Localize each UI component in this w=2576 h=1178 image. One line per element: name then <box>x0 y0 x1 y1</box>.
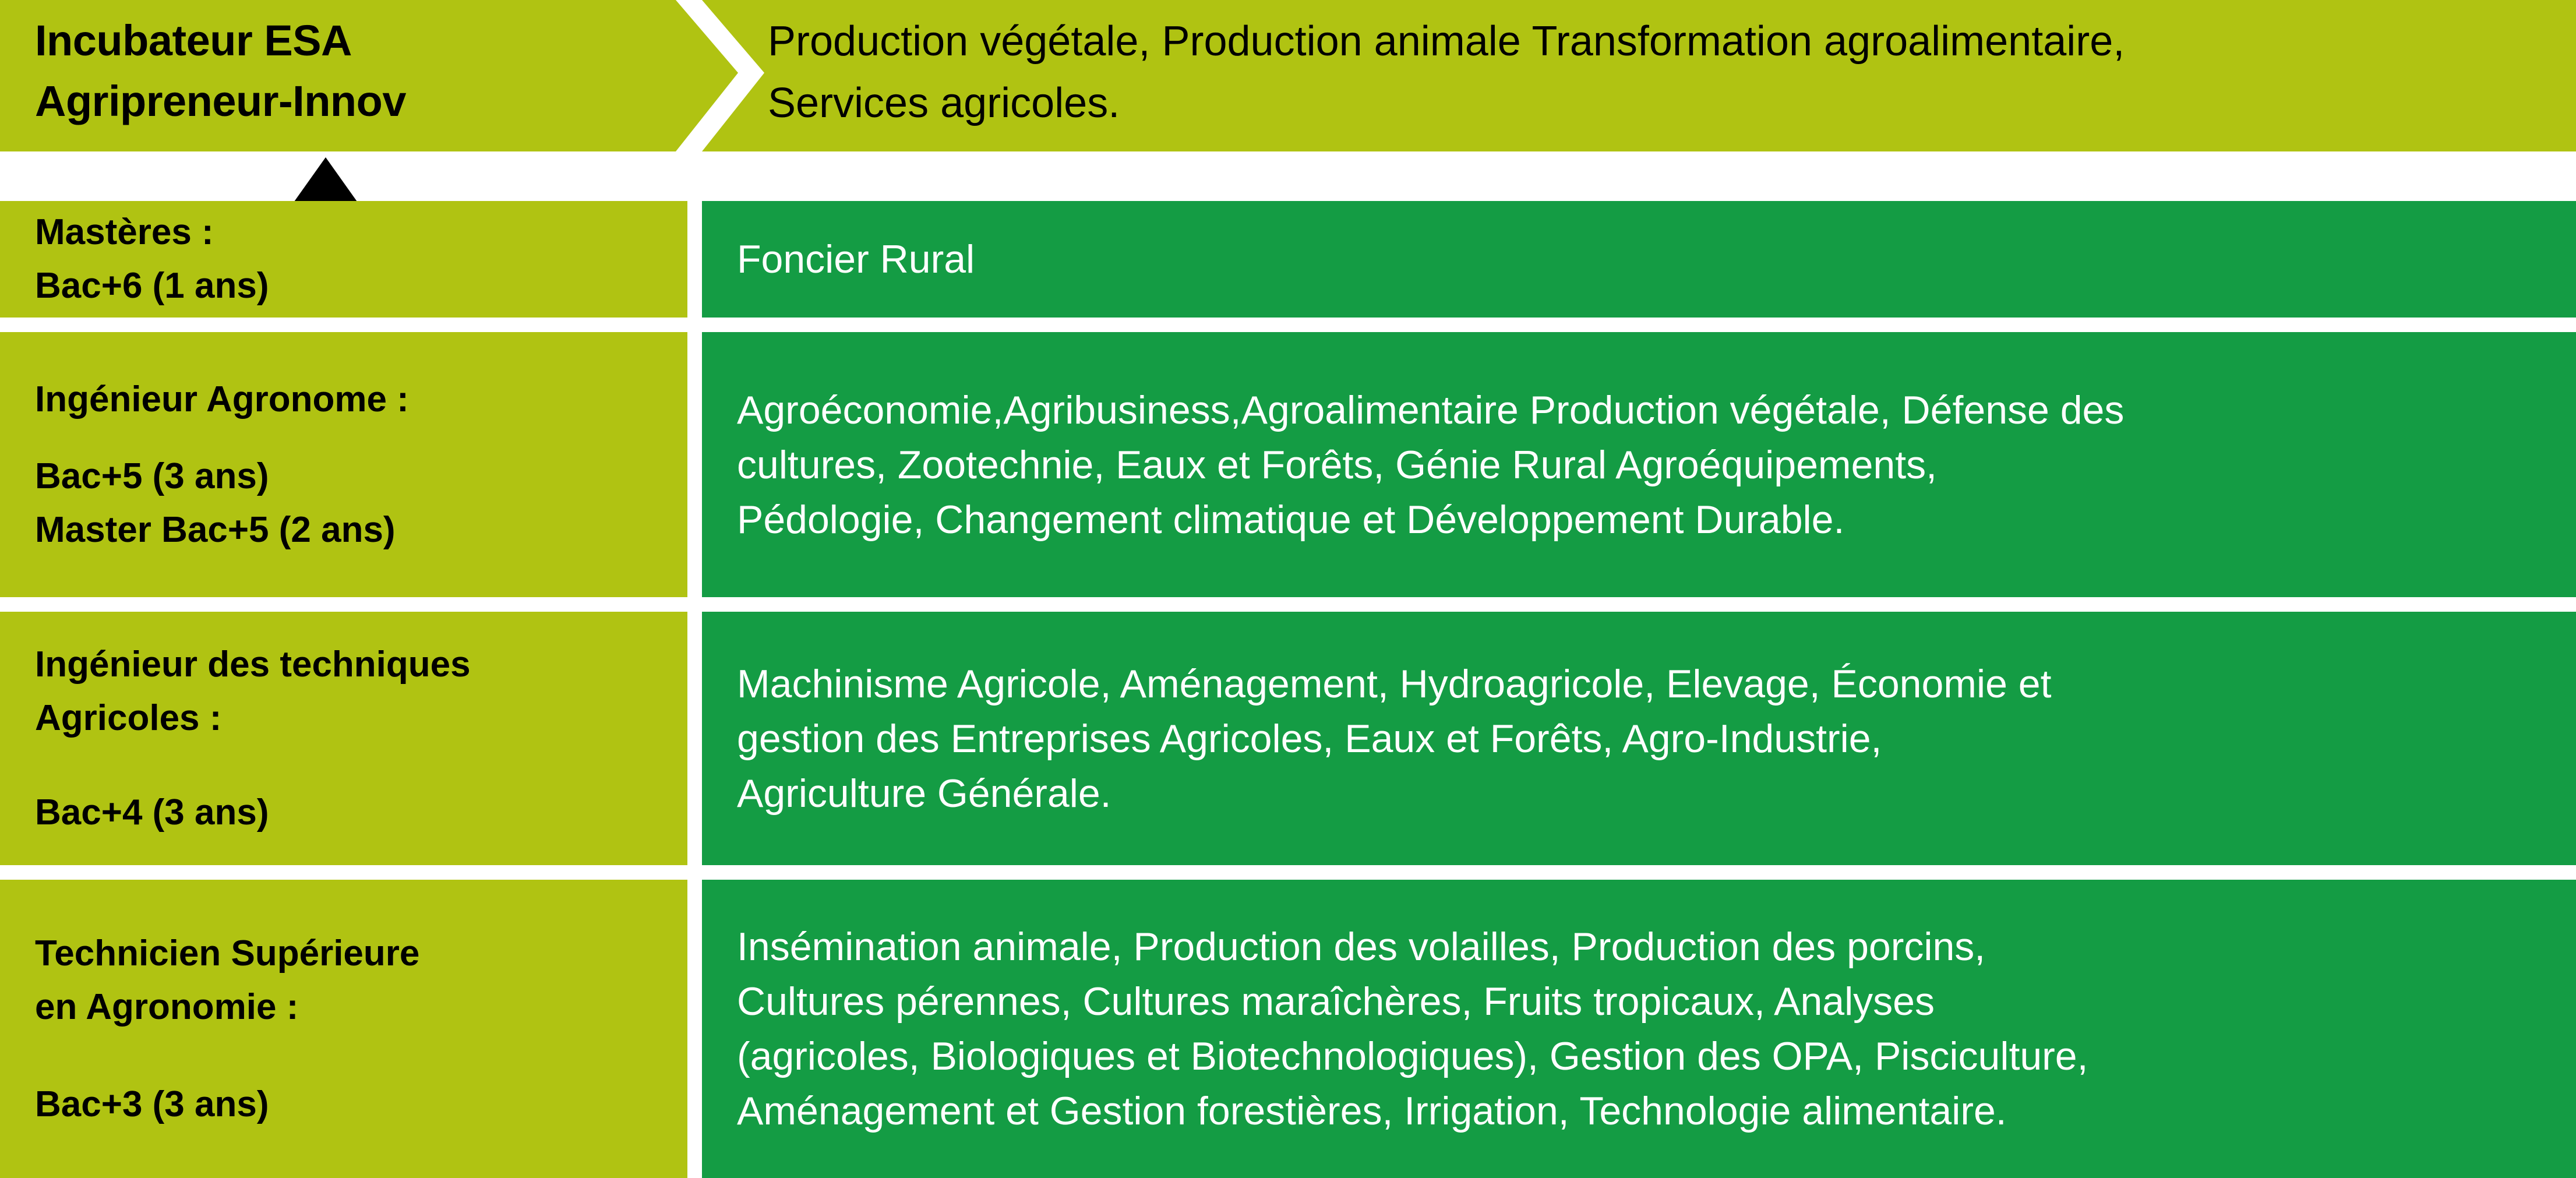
level-duration: Bac+5 (3 ans) Master Bac+5 (2 ans) <box>35 450 687 557</box>
programs-text: Insémination animale, Production des vol… <box>737 919 2559 1138</box>
level-cell[interactable]: Technicien Supérieure en Agronomie : Bac… <box>0 880 687 1178</box>
level-title: Ingénieur des techniques Agricoles : <box>35 638 687 745</box>
programs-cell[interactable]: Foncier Rural <box>702 201 2576 318</box>
incubator-programs: Production végétale, Production animale … <box>768 10 2550 134</box>
programs-text: Machinisme Agricole, Aménagement, Hydroa… <box>737 657 2559 821</box>
level-title: Ingénieur Agronome : <box>35 373 687 426</box>
level-duration: Bac+4 (3 ans) <box>35 786 687 840</box>
incubator-banner: Incubateur ESA Agripreneur-Innov Product… <box>0 0 2576 151</box>
incubator-title: Incubateur ESA Agripreneur-Innov <box>35 10 652 132</box>
level-duration: Bac+6 (1 ans) <box>35 259 687 313</box>
programs-text: Foncier Rural <box>737 231 2559 288</box>
level-cell[interactable]: Ingénieur Agronome : Bac+5 (3 ans) Maste… <box>0 332 687 597</box>
level-title: Mastères : <box>35 206 687 259</box>
programs-cell[interactable]: Agroéconomie,Agribusiness,Agroalimentair… <box>702 332 2576 597</box>
level-cell[interactable]: Ingénieur des techniques Agricoles : Bac… <box>0 612 687 865</box>
programs-cell[interactable]: Machinisme Agricole, Aménagement, Hydroa… <box>702 612 2576 865</box>
programs-cell[interactable]: Insémination animale, Production des vol… <box>702 880 2576 1178</box>
level-title: Technicien Supérieure en Agronomie : <box>35 927 687 1034</box>
programs-text: Agroéconomie,Agribusiness,Agroalimentair… <box>737 383 2559 547</box>
level-cell[interactable]: Mastères : Bac+6 (1 ans) <box>0 201 687 318</box>
level-duration: Bac+3 (3 ans) <box>35 1078 687 1131</box>
formation-levels-diagram: Incubateur ESA Agripreneur-Innov Product… <box>0 0 2576 1178</box>
up-arrow-icon <box>294 157 357 202</box>
